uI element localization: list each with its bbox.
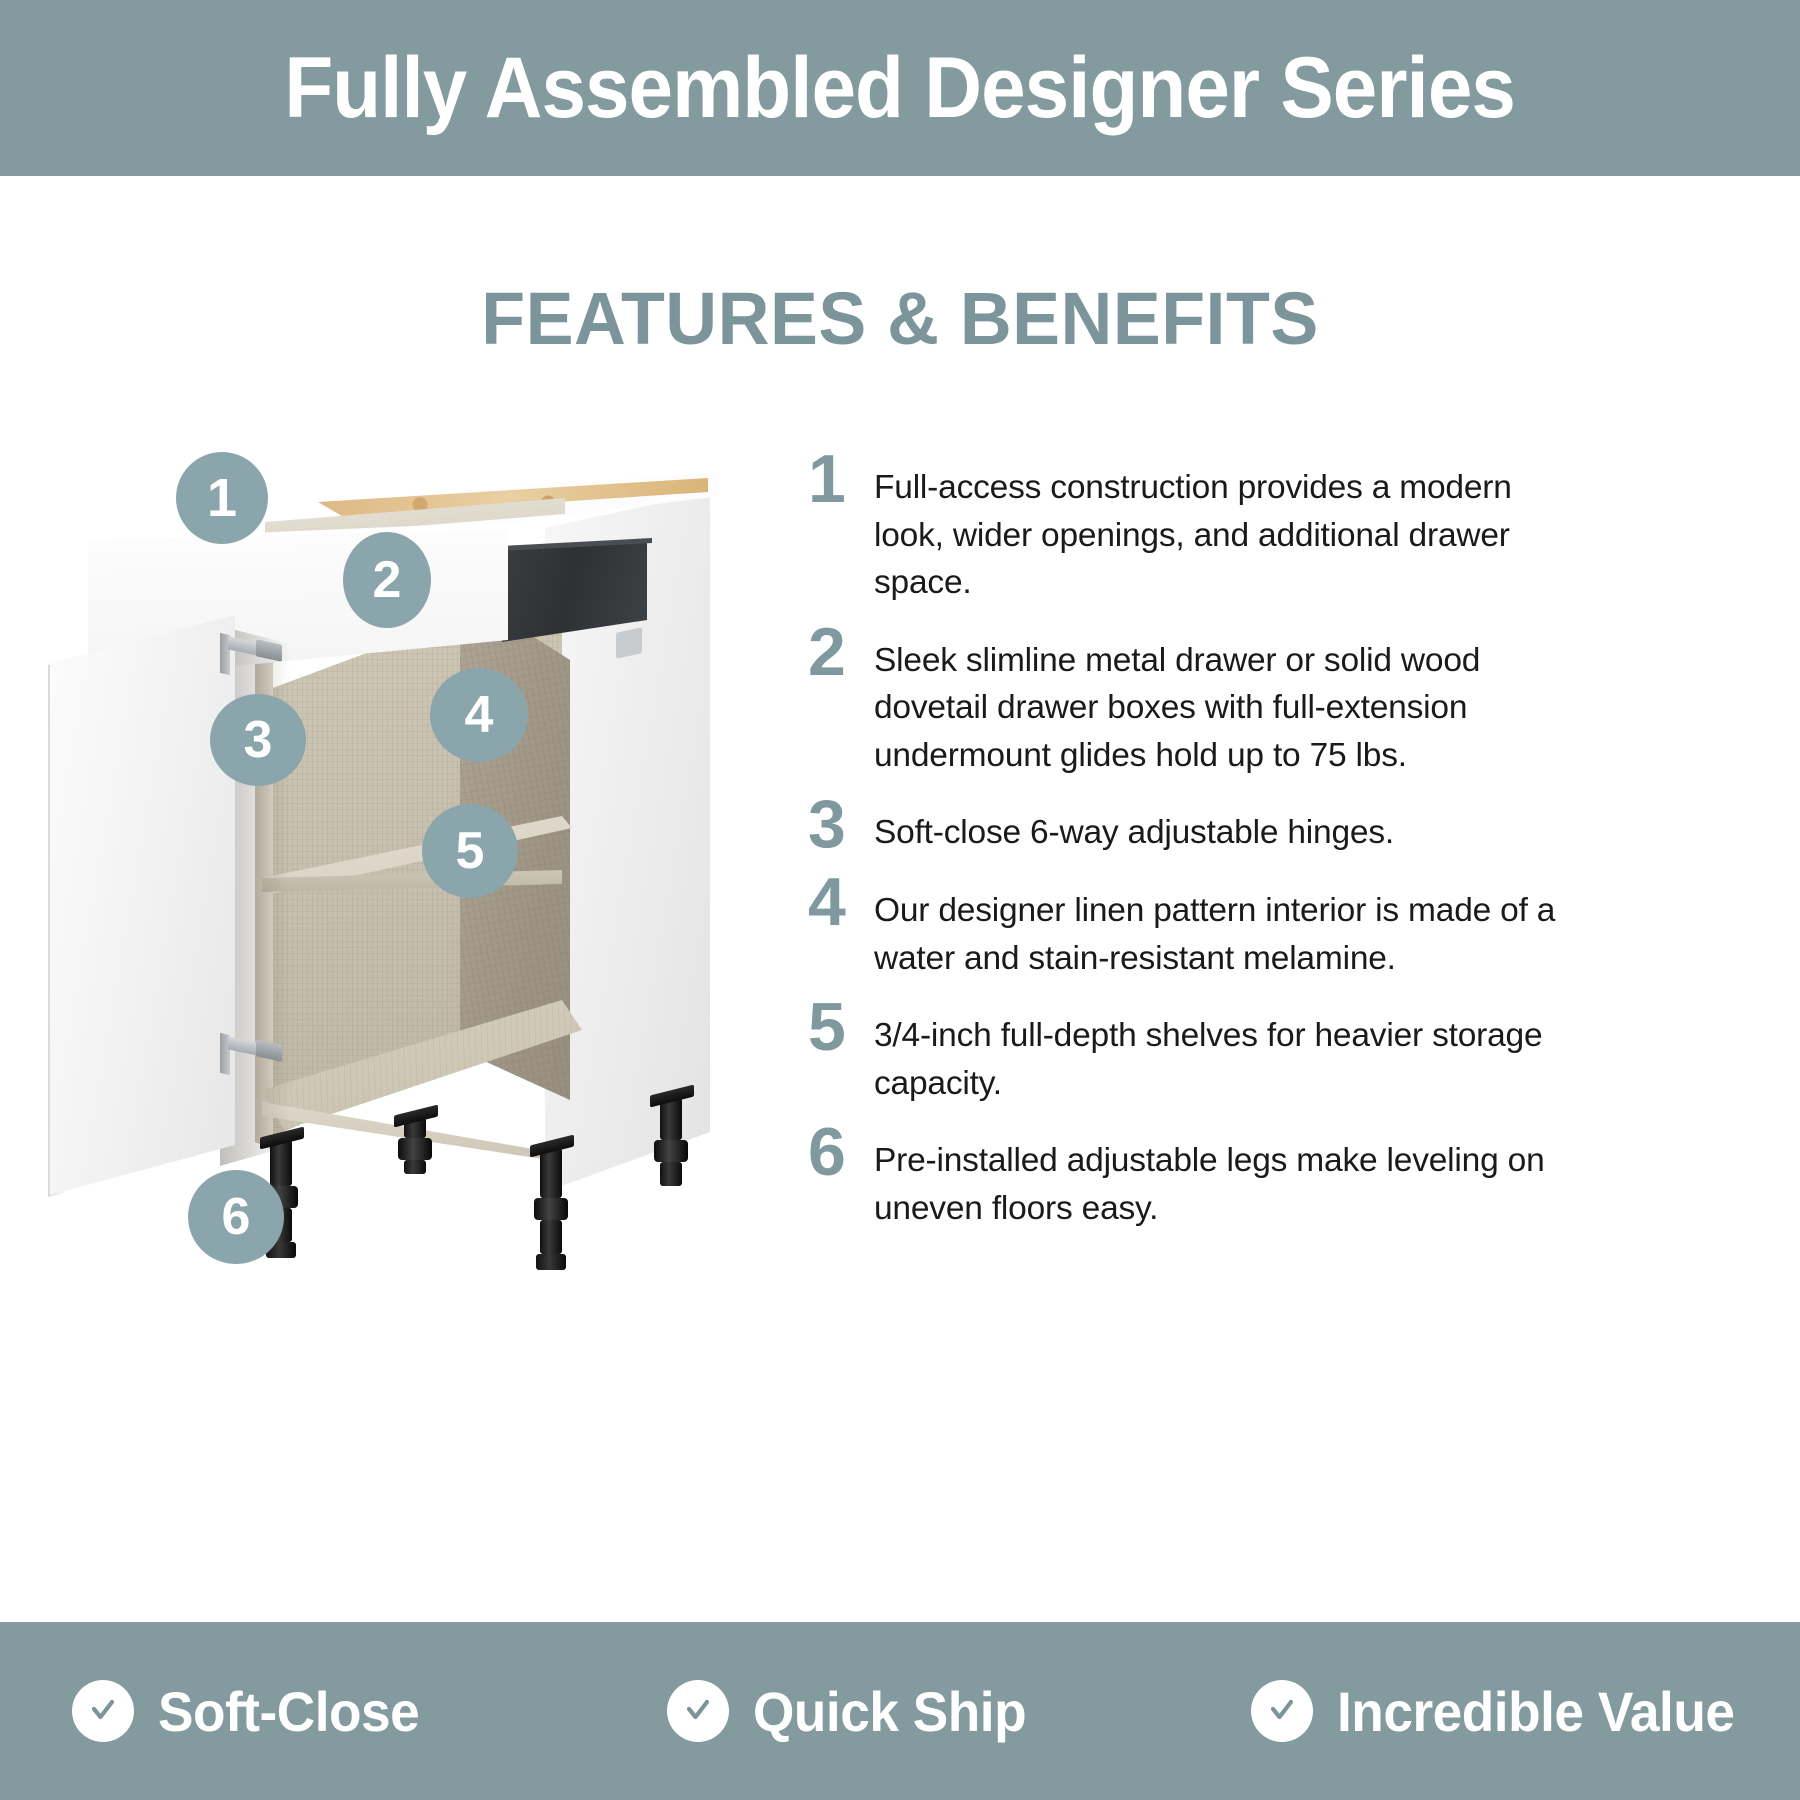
callout-badge-5-label: 5 — [456, 825, 485, 877]
leg-shaft — [270, 1140, 292, 1186]
callout-badge-3: 3 — [210, 694, 306, 786]
check-circle-icon — [72, 1680, 134, 1742]
callout-badge-4: 4 — [430, 668, 528, 762]
leg-shaft — [660, 1098, 682, 1140]
feature-text-1: Full-access construction provides a mode… — [874, 452, 1560, 607]
header-bar: Fully Assembled Designer Series — [0, 0, 1800, 176]
feature-text-5: 3/4-inch full-depth shelves for heavier … — [874, 1000, 1560, 1107]
leg-lower-shaft — [540, 1220, 562, 1254]
feature-item-3: 3 Soft-close 6-way adjustable hinges. — [800, 797, 1560, 857]
leg-lower-shaft — [404, 1160, 426, 1174]
feature-text-6: Pre-installed adjustable legs make level… — [874, 1125, 1560, 1232]
callout-badge-2-label: 2 — [373, 554, 402, 606]
page-title: Fully Assembled Designer Series — [285, 45, 1516, 131]
feature-number-6: 6 — [800, 1125, 874, 1181]
footer-item-incredible-value: Incredible Value — [1215, 1679, 1800, 1744]
leg-lower-shaft — [660, 1162, 682, 1186]
feature-item-5: 5 3/4-inch full-depth shelves for heavie… — [800, 1000, 1560, 1107]
leg-collar — [654, 1140, 688, 1162]
feature-text-4: Our designer linen pattern interior is m… — [874, 875, 1560, 982]
adjustable-leg-front-right — [534, 1148, 568, 1270]
callout-badge-1: 1 — [176, 452, 268, 544]
leg-collar — [398, 1138, 432, 1160]
callout-badge-1-label: 1 — [207, 471, 237, 525]
footer-label-soft-close: Soft-Close — [158, 1679, 419, 1744]
footer-label-quick-ship: Quick Ship — [753, 1679, 1026, 1744]
feature-number-1: 1 — [800, 452, 874, 508]
footer-bar: Soft-Close Quick Ship Incredible Value — [0, 1622, 1800, 1800]
soft-close-hinge-lower — [220, 1030, 286, 1074]
adjustable-leg-rear-left — [398, 1118, 432, 1174]
adjustable-leg-rear-right — [654, 1098, 688, 1186]
feature-number-2: 2 — [800, 625, 874, 681]
callout-badge-6: 6 — [188, 1170, 284, 1264]
footer-label-incredible-value: Incredible Value — [1337, 1679, 1734, 1744]
check-circle-icon — [1251, 1680, 1313, 1742]
feature-number-4: 4 — [800, 875, 874, 931]
feature-number-3: 3 — [800, 797, 874, 853]
hinge-cup — [256, 1039, 282, 1062]
callout-badge-4-label: 4 — [465, 689, 494, 741]
product-image: 1 2 3 4 5 6 — [40, 430, 800, 1330]
feature-item-4: 4 Our designer linen pattern interior is… — [800, 875, 1560, 982]
footer-item-quick-ship: Quick Ship — [621, 1679, 1216, 1744]
check-circle-icon — [667, 1680, 729, 1742]
leg-collar — [534, 1198, 568, 1220]
cabinet-door — [50, 615, 235, 1195]
feature-text-2: Sleek slimline metal drawer or solid woo… — [874, 625, 1560, 780]
feature-text-3: Soft-close 6-way adjustable hinges. — [874, 797, 1560, 857]
soft-close-hinge-upper — [220, 630, 286, 674]
footer-item-soft-close: Soft-Close — [0, 1679, 621, 1744]
callout-badge-5: 5 — [422, 804, 518, 898]
leg-foot — [536, 1254, 566, 1270]
feature-item-2: 2 Sleek slimline metal drawer or solid w… — [800, 625, 1560, 780]
undermount-glide — [616, 627, 642, 659]
callout-badge-6-label: 6 — [222, 1191, 251, 1243]
features-list: 1 Full-access construction provides a mo… — [800, 452, 1560, 1250]
feature-number-5: 5 — [800, 1000, 874, 1056]
leg-shaft — [540, 1148, 562, 1198]
cabinet-illustration: 1 2 3 4 5 6 — [40, 430, 800, 1330]
feature-item-1: 1 Full-access construction provides a mo… — [800, 452, 1560, 607]
section-heading: FEATURES & BENEFITS — [27, 282, 1773, 356]
callout-badge-3-label: 3 — [244, 714, 273, 766]
hinge-cup — [256, 639, 282, 662]
callout-badge-2: 2 — [343, 532, 431, 628]
feature-item-6: 6 Pre-installed adjustable legs make lev… — [800, 1125, 1560, 1232]
